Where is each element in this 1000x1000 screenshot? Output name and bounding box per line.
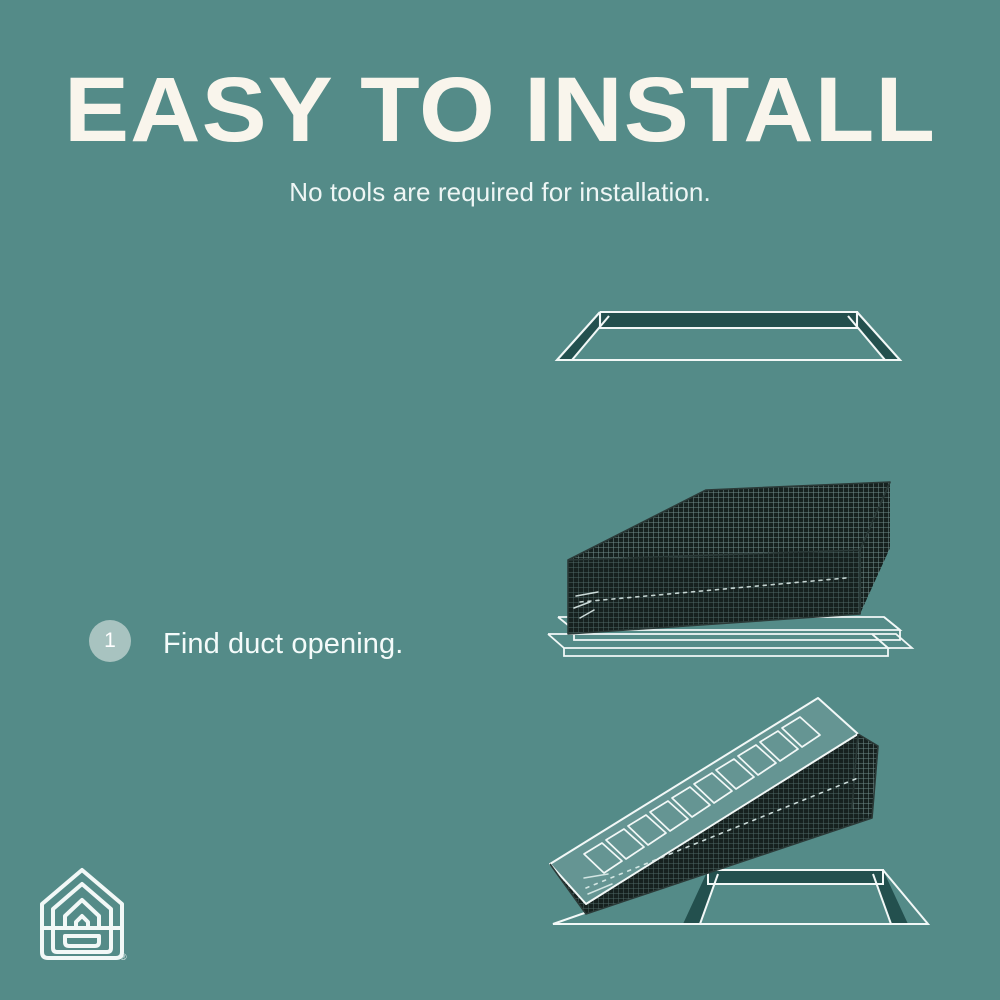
vent-insert-illustration xyxy=(528,688,958,953)
mesh-basket-illustration xyxy=(528,462,958,667)
step-text-2: Place vent upside-down and stretch mesh … xyxy=(163,995,473,1000)
page-title: EASY TO INSTALL xyxy=(0,62,1000,158)
page-subtitle: No tools are required for installation. xyxy=(0,176,1000,208)
poster: EASY TO INSTALL No tools are required fo… xyxy=(0,0,1000,1000)
duct-opening-illustration xyxy=(530,290,950,405)
step-item-1: 1 Find duct opening. xyxy=(0,300,540,390)
vent-inserted-into-opening-icon xyxy=(528,688,958,948)
step-item-2: 2 Place vent upside-down and stretch mes… xyxy=(0,490,540,640)
step-text-line: Place vent upside-down xyxy=(163,995,473,1000)
house-brand-logo-icon: ® xyxy=(36,866,128,962)
mesh-basket-over-vent-icon xyxy=(528,462,958,662)
registered-mark: ® xyxy=(120,952,127,962)
duct-opening-icon xyxy=(530,290,950,400)
brand-logo: ® xyxy=(36,866,128,962)
